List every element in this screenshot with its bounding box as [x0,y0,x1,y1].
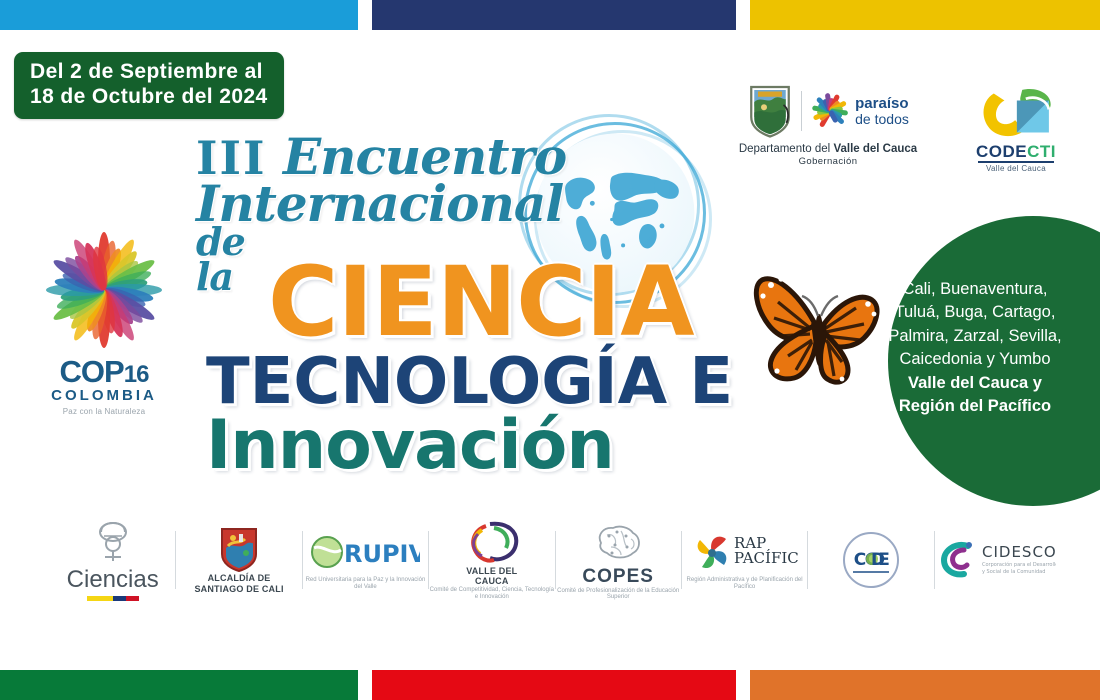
stripe-bottom-orange [750,670,1100,700]
event-date-line-2: 18 de Octubre del 2024 [30,85,268,110]
cop16-logo: COP16 COLOMBIA Paz con la Naturaleza [36,228,172,416]
stripe-gap [736,0,750,30]
stripe-gap [736,670,750,700]
headline-word-ciencia: CIENCIA [268,258,694,346]
rap-pacifico-mark-icon: RAP PACÍFICO [692,530,798,576]
paraiso-burst-icon [810,90,850,132]
top-stripe-band [0,0,1100,30]
bottom-stripe-band [0,670,1100,700]
stripe-gap [358,670,372,700]
region-line-1: Valle del Cauca y [868,372,1082,395]
codecti-word-code: CODE [976,142,1027,161]
valle-ctei-ribbon-icon [460,519,524,565]
minciencias-label: Ciencias [67,567,159,592]
partner-logo-code: C E C D [808,508,933,612]
rupiv-tagline: Red Universitaria para la Paz y la Innov… [303,577,428,590]
cop16-cop-text: COP [60,354,124,389]
copes-label: COPES [582,567,654,587]
svg-text:RUPIV: RUPIV [344,540,420,568]
codecti-wordmark: CODECTI [968,143,1064,160]
cidesco-mark-icon: CIDESCO Corporación para el Desarrollo E… [938,537,1056,583]
event-date-badge: Del 2 de Septiembre al 18 de Octubre del… [14,52,284,119]
svg-text:Corporación para el Desarrollo: Corporación para el Desarrollo Económico [982,561,1056,568]
poster-canvas: Del 2 de Septiembre al 18 de Octubre del… [0,0,1100,700]
codecti-subtitle: Valle del Cauca [968,164,1064,173]
location-city-list: Cali, Buenaventura, Tuluá, Buga, Cartago… [868,278,1082,419]
partner-logo-rap-pacifico: RAP PACÍFICO Región Administrativa y de … [682,508,807,612]
svg-text:PACÍFICO: PACÍFICO [734,549,798,567]
svg-text:y Social de la Comunidad: y Social de la Comunidad [982,569,1045,575]
city-line-4: Caicedonia y Yumbo [868,348,1082,371]
headline-word-innovacion: Innovación [206,414,614,479]
partner-logo-minciencias: Ciencias [50,508,175,612]
valle-del-cauca-shield-icon [747,84,793,138]
headline-line-2: Internacional [196,179,736,229]
svg-text:CIDESCO: CIDESCO [982,543,1056,561]
rap-pacifico-tagline: Región Administrativa y de Planificación… [682,577,807,590]
monarch-butterfly-icon [744,252,894,402]
paraiso-line-1: paraíso [855,96,909,112]
stripe-gap [358,0,372,30]
cop16-number: 16 [124,361,149,388]
headline-word-tecnologia: TECNOLOGÍA E [206,352,733,413]
stripe-bottom-red [372,670,736,700]
svg-text:C: C [854,550,866,570]
alcaldia-cali-label: ALCALDÍA DE SANTIAGO DE CALI [194,573,283,593]
codecti-word-cti: CTI [1027,142,1056,161]
svg-text:D: D [871,550,885,570]
partner-logo-copes: COPES Comité de Profesionalización de la… [556,508,681,612]
city-line-1: Cali, Buenaventura, [868,278,1082,301]
cop16-burst-icon [42,228,166,352]
copes-brain-icon [593,519,643,565]
logo-divider [801,91,802,131]
city-line-2: Tuluá, Buga, Cartago, [868,301,1082,324]
cop16-country: COLOMBIA [36,387,172,405]
rupiv-mark-icon: RUPIV [310,530,420,576]
codecti-rule [978,161,1054,163]
stripe-top-navy [372,0,736,30]
stripe-top-light-blue [0,0,358,30]
colombia-flag-icon [87,596,139,601]
alcaldia-cali-shield-icon [219,526,259,572]
partner-logo-cidesco: CIDESCO Corporación para el Desarrollo E… [935,508,1060,612]
minciencias-emblem-icon [93,519,133,565]
gobernacion-subcaption: Gobernación [722,156,934,167]
gobernacion-valle-logo: paraíso de todos Departamento del Valle … [722,82,934,167]
city-line-3: Palmira, Zarzal, Sevilla, [868,325,1082,348]
codecti-mark-icon [976,84,1056,142]
stripe-bottom-green [0,670,358,700]
gobernacion-caption-bold: Valle del Cauca [833,143,917,155]
copes-tagline: Comité de Profesionalización de la Educa… [556,588,681,601]
partner-logo-strip: Ciencias ALCALDÍA DE SANTIAGO DE CALI [50,508,1060,612]
paraiso-de-todos-logo: paraíso de todos [810,90,909,132]
region-line-2: Región del Pacífico [868,395,1082,418]
cop16-tagline: Paz con la Naturaleza [36,407,172,416]
codecti-logo: CODECTI Valle del Cauca [968,84,1064,173]
paraiso-line-2: de todos [855,112,909,127]
partner-logo-rupiv: RUPIV Red Universitaria para la Paz y la… [303,508,428,612]
code-circle-icon: C E C D [839,537,903,583]
event-date-line-1: Del 2 de Septiembre al [30,60,268,85]
cop16-wordmark: COP16 [36,356,172,387]
valle-ctei-tagline: Comité de Competitividad, Ciencia, Tecno… [429,587,554,600]
government-logo-group: paraíso de todos Departamento del Valle … [722,82,1062,186]
stripe-top-yellow [750,0,1100,30]
gobernacion-caption: Departamento del Valle del Cauca [722,143,934,155]
valle-ctei-label: VALLE DEL CAUCA [466,566,517,586]
gobernacion-caption-prefix: Departamento del [739,143,834,155]
partner-logo-alcaldia-cali: ALCALDÍA DE SANTIAGO DE CALI [176,508,301,612]
partner-logo-valle-ctei: VALLE DEL CAUCA Comité de Competitividad… [429,508,554,612]
